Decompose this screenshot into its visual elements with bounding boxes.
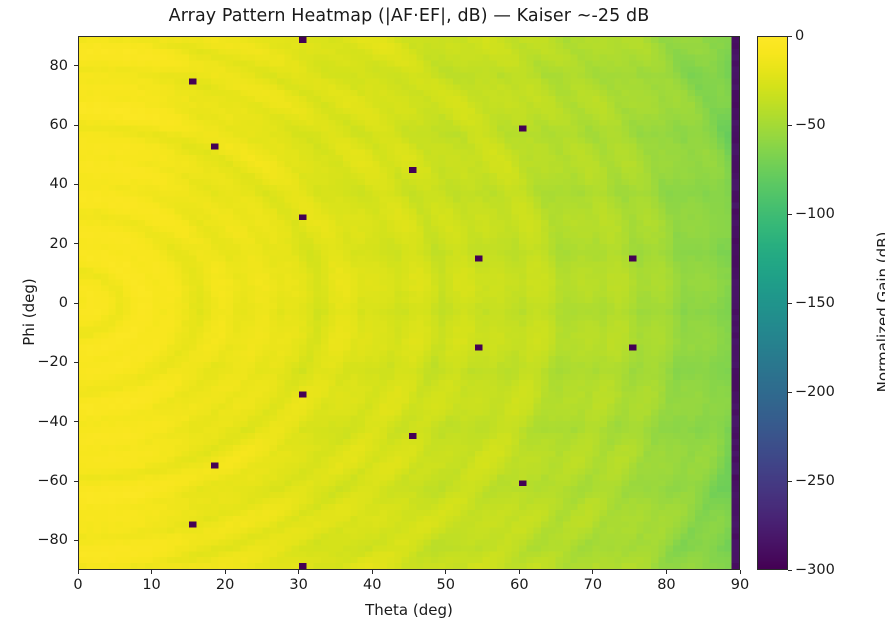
y-tick-mark <box>74 65 78 66</box>
colorbar-tick-mark <box>788 392 792 393</box>
x-tick-label: 70 <box>584 577 602 593</box>
colorbar-label: Normalized Gain (dB) <box>874 162 885 462</box>
x-tick-label: 80 <box>657 577 675 593</box>
y-tick-mark <box>74 303 78 304</box>
x-tick-mark <box>445 570 446 574</box>
y-tick-mark <box>74 540 78 541</box>
y-tick-mark <box>74 421 78 422</box>
colorbar-tick-label: −50 <box>795 117 826 133</box>
colorbar-tick-label: −100 <box>795 206 835 222</box>
colorbar-tick-label: −250 <box>795 473 835 489</box>
x-tick-label: 40 <box>363 577 381 593</box>
y-tick-mark <box>74 184 78 185</box>
x-tick-mark <box>519 570 520 574</box>
x-tick-mark <box>740 570 741 574</box>
colorbar-tick-mark <box>788 481 792 482</box>
colorbar-tick-mark <box>788 36 792 37</box>
x-tick-label: 60 <box>510 577 528 593</box>
colorbar[interactable] <box>757 36 788 570</box>
x-tick-label: 50 <box>437 577 455 593</box>
x-tick-mark <box>151 570 152 574</box>
heatmap-image <box>79 37 739 569</box>
x-tick-mark <box>298 570 299 574</box>
x-tick-label: 20 <box>216 577 234 593</box>
x-tick-label: 10 <box>142 577 160 593</box>
x-tick-label: 90 <box>731 577 749 593</box>
x-axis-label: Theta (deg) <box>78 601 740 619</box>
y-tick-mark <box>74 481 78 482</box>
colorbar-tick-label: 0 <box>795 28 804 44</box>
colorbar-tick-label: −200 <box>795 384 835 400</box>
x-tick-label: 0 <box>73 577 82 593</box>
colorbar-tick-mark <box>788 214 792 215</box>
y-tick-label: 80 <box>0 58 68 74</box>
x-tick-mark <box>666 570 667 574</box>
x-tick-mark <box>592 570 593 574</box>
y-tick-mark <box>74 362 78 363</box>
colorbar-tick-label: −150 <box>795 295 835 311</box>
figure-canvas: Array Pattern Heatmap (|AF·EF|, dB) — Ka… <box>0 0 885 637</box>
x-tick-label: 30 <box>289 577 307 593</box>
chart-title: Array Pattern Heatmap (|AF·EF|, dB) — Ka… <box>0 6 818 26</box>
y-tick-label: 60 <box>0 117 68 133</box>
colorbar-tick-mark <box>788 570 792 571</box>
x-tick-mark <box>225 570 226 574</box>
colorbar-tick-mark <box>788 125 792 126</box>
y-axis-label: Phi (deg) <box>20 182 38 442</box>
heatmap-plot-area[interactable] <box>78 36 740 570</box>
y-tick-mark <box>74 243 78 244</box>
y-tick-mark <box>74 125 78 126</box>
colorbar-gradient <box>758 37 787 569</box>
colorbar-tick-mark <box>788 303 792 304</box>
x-tick-mark <box>78 570 79 574</box>
colorbar-tick-label: −300 <box>795 562 835 578</box>
x-tick-mark <box>372 570 373 574</box>
y-tick-label: −80 <box>0 532 68 548</box>
y-tick-label: −60 <box>0 473 68 489</box>
